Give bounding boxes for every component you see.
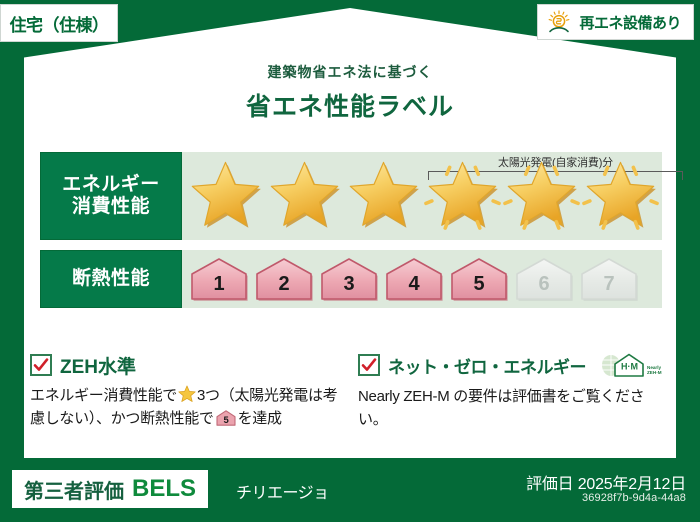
title-subtitle: 建築物省エネ法に基づく (0, 62, 700, 82)
net-zero-energy-note: ネット・ゼロ・エネルギー H·M Nearly ZEH-M Nearly ZEH… (358, 352, 670, 432)
energy-performance-label: エネルギー 消費性能 (40, 152, 182, 240)
insulation-level-scale: 1234567 (182, 256, 640, 302)
insulation-level-badge-4: 4 (383, 256, 445, 302)
insulation-level-number: 4 (408, 273, 419, 302)
zeh-m-logo-sub-line2: ZEH-M (647, 370, 662, 375)
renewable-equipment-badge: 再エネ設備あり (537, 4, 694, 40)
insulation-level-number: 5 (473, 273, 484, 302)
energy-label-line1: エネルギー (62, 174, 160, 196)
inline-level-badge-icon: 5 (215, 409, 237, 427)
zeh-standard-heading: ZEH水準 (30, 352, 342, 378)
insulation-performance-body: 1234567 (182, 250, 662, 308)
net-zero-energy-body: Nearly ZEH-M の要件は評価書をご覧ください。 (358, 385, 670, 432)
zeh-m-logo-main-text: H·M (621, 362, 638, 372)
star-6 (581, 156, 660, 236)
inline-level-badge-number: 5 (223, 415, 228, 426)
star-5 (502, 156, 581, 236)
house-type-tag-label: 住宅（住棟） (10, 11, 109, 36)
title-main: 省エネ性能ラベル (0, 87, 700, 123)
insulation-level-badge-1: 1 (188, 256, 250, 302)
house-type-tag: 住宅（住棟） (0, 4, 118, 42)
energy-label-line2: 消費性能 (72, 196, 150, 218)
net-zero-energy-heading: ネット・ゼロ・エネルギー H·M Nearly ZEH-M (358, 352, 670, 378)
insulation-level-number: 3 (343, 273, 354, 302)
net-zero-energy-checkbox (358, 354, 380, 376)
energy-performance-row: エネルギー 消費性能 太陽光発電(自家消費)分 (40, 152, 662, 240)
insulation-level-number: 6 (538, 273, 549, 302)
zeh-standard-note: ZEH水準 エネルギー消費性能で3つ（太陽光発電は考慮しない）、かつ断熱性能で5… (30, 352, 342, 432)
title-block: 建築物省エネ法に基づく 省エネ性能ラベル (0, 62, 700, 123)
zeh-body-part3: を達成 (238, 410, 282, 427)
insulation-level-number: 7 (603, 273, 614, 302)
insulation-level-number: 1 (213, 273, 224, 302)
check-icon (361, 357, 377, 373)
brand-name: チリエージョ (236, 479, 329, 503)
renewable-badge-label: 再エネ設備あり (579, 12, 681, 33)
star-2 (265, 156, 344, 236)
zeh-body-part1: エネルギー消費性能で (30, 387, 177, 404)
bels-en-label: BELS (132, 475, 196, 503)
net-zero-energy-title: ネット・ゼロ・エネルギー (388, 353, 586, 378)
insulation-performance-label: 断熱性能 (40, 250, 182, 308)
zeh-standard-title: ZEH水準 (60, 352, 136, 379)
energy-star-rating (182, 156, 660, 236)
solar-sun-icon (546, 10, 572, 34)
insulation-level-badge-2: 2 (253, 256, 315, 302)
insulation-level-badge-3: 3 (318, 256, 380, 302)
energy-performance-label: 住宅（住棟） 再エネ設備あり 建築物省エネ法に基づく 省エネ性能ラベル (0, 0, 700, 522)
check-icon (33, 357, 49, 373)
zeh-standard-checkbox (30, 354, 52, 376)
insulation-label-text: 断熱性能 (72, 268, 150, 290)
insulation-level-badge-5: 5 (448, 256, 510, 302)
bels-certification-box: 第三者評価 BELS (12, 470, 208, 508)
star-3 (344, 156, 423, 236)
zeh-standard-body: エネルギー消費性能で3つ（太陽光発電は考慮しない）、かつ断熱性能で5を達成 (30, 385, 342, 431)
insulation-level-badge-6: 6 (513, 256, 575, 302)
metric-rows: エネルギー 消費性能 太陽光発電(自家消費)分 断熱性能 1234567 (40, 152, 662, 308)
label-footer: 第三者評価 BELS チリエージョ 評価日 2025年2月12日 36928f7… (0, 460, 700, 522)
evaluation-date: 評価日 2025年2月12日 (526, 470, 686, 494)
insulation-level-badge-7: 7 (578, 256, 640, 302)
inline-star-icon (178, 385, 196, 403)
insulation-performance-row: 断熱性能 1234567 (40, 250, 662, 308)
nearly-zeh-m-logo: H·M Nearly ZEH-M (598, 351, 666, 379)
insulation-level-number: 2 (278, 273, 289, 302)
energy-performance-body: 太陽光発電(自家消費)分 (182, 152, 662, 240)
evaluation-id: 36928f7b-9d4a-44a8 (582, 492, 686, 504)
star-4 (423, 156, 502, 236)
star-1 (186, 156, 265, 236)
notes-section: ZEH水準 エネルギー消費性能で3つ（太陽光発電は考慮しない）、かつ断熱性能で5… (30, 352, 670, 432)
bels-jp-label: 第三者評価 (24, 475, 124, 504)
